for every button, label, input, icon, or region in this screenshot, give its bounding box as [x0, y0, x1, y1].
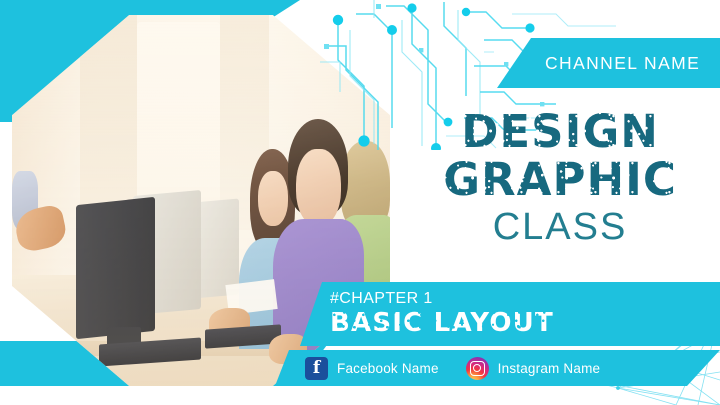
- facebook-name-label: Facebook Name: [337, 361, 439, 376]
- facebook-link[interactable]: f Facebook Name: [305, 357, 439, 380]
- chapter-banner: #CHAPTER 1 BASIC LAYOUT: [300, 282, 720, 346]
- chapter-title-label: BASIC LAYOUT: [330, 308, 554, 338]
- channel-name-text: CHANNEL NAME: [545, 53, 700, 74]
- instagram-icon: [466, 357, 489, 380]
- social-media-bar: f Facebook Name Instagram Name: [275, 350, 720, 386]
- instagram-link[interactable]: Instagram Name: [466, 357, 601, 380]
- chapter-number-label: #CHAPTER 1: [330, 290, 720, 308]
- instagram-camera-body: [470, 361, 485, 376]
- title-line-graphic: GRAPHIC: [443, 155, 677, 205]
- instagram-name-label: Instagram Name: [498, 361, 601, 376]
- title-line-class: CLASS: [400, 206, 720, 248]
- instagram-lens: [473, 364, 481, 372]
- facebook-icon: f: [305, 357, 328, 380]
- title-line-design: DESIGN: [461, 108, 659, 155]
- thumbnail-canvas: CHANNEL NAME DESIGN GRAPHIC CLASS #CHAPT…: [0, 0, 720, 405]
- channel-name-banner[interactable]: CHANNEL NAME: [497, 38, 720, 88]
- main-title-block: DESIGN GRAPHIC CLASS: [400, 108, 720, 248]
